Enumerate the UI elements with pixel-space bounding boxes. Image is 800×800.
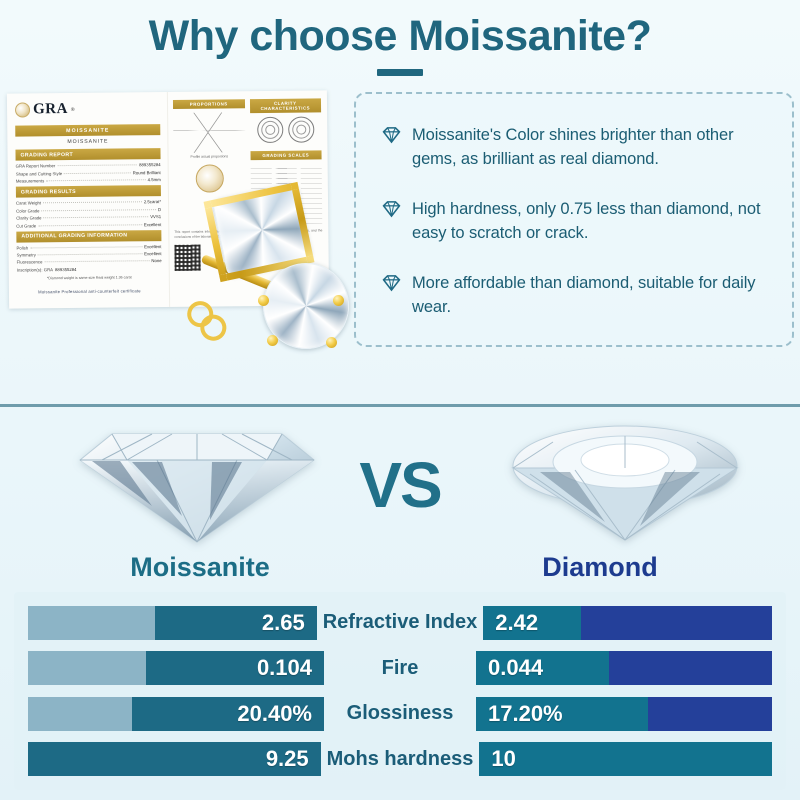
diamond-value: 2.42 bbox=[483, 610, 550, 636]
leader-dots bbox=[42, 209, 156, 211]
earring-back-icon bbox=[182, 285, 251, 349]
registered-mark: ® bbox=[71, 107, 75, 113]
benefit-item: More affordable than diamond, suitable f… bbox=[382, 272, 768, 320]
row-key: Symmetry bbox=[17, 253, 36, 258]
additional-row: Symmetry Excellent bbox=[17, 251, 162, 258]
benefit-text: Moissanite's Color shines brighter than … bbox=[412, 124, 768, 172]
result-row: Color Grade D bbox=[16, 207, 161, 214]
leader-dots bbox=[43, 216, 148, 218]
leader-dots bbox=[64, 172, 131, 174]
row-key: Fluorescence bbox=[17, 260, 43, 265]
certificate-left-column: GRA ® MOISSANITE MOISSANITE GRADING REPO… bbox=[7, 92, 169, 309]
crown-facet-icon bbox=[257, 117, 283, 143]
benefit-item: Moissanite's Color shines brighter than … bbox=[382, 124, 768, 172]
report-row: Shape and Cutting Style Round Brilliant bbox=[16, 170, 161, 177]
title-underline bbox=[377, 69, 423, 76]
row-key: Color Grade bbox=[16, 208, 39, 213]
diamond-icon bbox=[382, 200, 401, 223]
certificate-note: *Diamond weight is same size Real weight… bbox=[17, 275, 162, 281]
benefit-text: More affordable than diamond, suitable f… bbox=[412, 272, 768, 320]
moissanite-earrings-image bbox=[181, 187, 366, 362]
metric-label: Glossiness bbox=[324, 702, 476, 725]
benefits-card: Moissanite's Color shines brighter than … bbox=[354, 92, 794, 347]
leader-dots bbox=[44, 261, 149, 263]
metric-label: Mohs hardness bbox=[321, 748, 480, 771]
leader-dots bbox=[30, 246, 142, 248]
row-value: VVS1 bbox=[150, 214, 161, 219]
moissanite-bar: 20.40% bbox=[28, 697, 324, 731]
certificate-subtitle: MOISSANITE bbox=[15, 138, 160, 146]
proportions-diagram bbox=[173, 112, 245, 153]
row-value: 889355284 bbox=[139, 163, 161, 168]
moissanite-value: 20.40% bbox=[225, 701, 324, 727]
diamond-bar: 2.42 bbox=[483, 606, 772, 640]
metric-label: Fire bbox=[324, 657, 476, 680]
section-grading-report: GRADING REPORT bbox=[15, 148, 160, 161]
moissanite-value: 0.104 bbox=[245, 655, 324, 681]
section-additional-info: ADDITIONAL GRADING INFORMATION bbox=[16, 230, 161, 243]
certificate-photo: GRA ® MOISSANITE MOISSANITE GRADING REPO… bbox=[6, 92, 351, 360]
diamond-icon bbox=[382, 126, 401, 149]
intro-section: GRA ® MOISSANITE MOISSANITE GRADING REPO… bbox=[0, 84, 800, 369]
moissanite-value: 9.25 bbox=[254, 746, 321, 772]
pavilion-facet-icon bbox=[288, 117, 314, 143]
diamond-value: 10 bbox=[479, 746, 527, 772]
table-row: 20.40% Glossiness 17.20% bbox=[28, 697, 772, 731]
row-value: Excellent bbox=[144, 251, 161, 256]
result-row: Cut Grade Excellent bbox=[16, 222, 161, 229]
moissanite-bar: 2.65 bbox=[28, 606, 317, 640]
clarity-title: CLARITY CHARACTERISTICS bbox=[249, 99, 321, 114]
gra-logo: GRA ® bbox=[15, 100, 160, 119]
row-key: Cut Grade bbox=[16, 223, 36, 228]
metric-label: Refractive Index bbox=[317, 611, 484, 634]
row-value: 889355284 bbox=[55, 267, 77, 272]
prong-icon bbox=[326, 337, 337, 348]
moissanite-value: 2.65 bbox=[250, 610, 317, 636]
page-title: Why choose Moissanite? bbox=[0, 14, 800, 59]
leader-dots bbox=[46, 180, 145, 182]
diamond-image bbox=[500, 418, 750, 546]
report-row: GRA Report Number 889355284 bbox=[16, 163, 161, 170]
row-value: Excellent bbox=[144, 244, 161, 249]
left-label: Moissanite bbox=[0, 552, 400, 583]
leader-dots bbox=[38, 254, 142, 256]
diamond-bar: 0.044 bbox=[476, 651, 772, 685]
gra-seal-icon bbox=[15, 103, 30, 118]
scales-title: GRADING SCALES bbox=[250, 151, 322, 161]
diamond-bar: 17.20% bbox=[476, 697, 772, 731]
leader-dots bbox=[57, 165, 137, 167]
diamond-value: 17.20% bbox=[476, 701, 575, 727]
row-value: D bbox=[158, 207, 161, 212]
diamond-bar: 10 bbox=[479, 742, 772, 776]
row-key: GRA Report Number bbox=[16, 164, 56, 169]
row-value: 4.5mm bbox=[148, 177, 161, 182]
leader-dots bbox=[43, 202, 142, 204]
comparison-table: 2.65 Refractive Index 2.42 0.104 Fire 0.… bbox=[14, 592, 786, 790]
row-key: Measurements bbox=[16, 179, 44, 184]
row-value: 2.5carat* bbox=[144, 200, 161, 205]
row-value: Excellent bbox=[144, 222, 161, 227]
row-value: Round Brilliant bbox=[133, 170, 161, 175]
benefit-text: High hardness, only 0.75 less than diamo… bbox=[412, 198, 768, 246]
benefit-item: High hardness, only 0.75 less than diamo… bbox=[382, 198, 768, 246]
row-key: Inscription(s): GRA bbox=[17, 267, 53, 272]
diamond-icon bbox=[382, 274, 401, 297]
table-row: 9.25 Mohs hardness 10 bbox=[28, 742, 772, 776]
comparison-visual: VS Moissanite bbox=[0, 410, 800, 590]
row-key: Shape and Cutting Style bbox=[16, 171, 62, 176]
moissanite-bar: 9.25 bbox=[28, 742, 321, 776]
page-header: Why choose Moissanite? bbox=[0, 0, 800, 76]
row-key: Polish bbox=[16, 245, 28, 250]
proportions-title: PROPORTIONS bbox=[173, 99, 245, 109]
row-key: Clarity Grade bbox=[16, 216, 41, 221]
prong-icon bbox=[267, 335, 278, 346]
moissanite-bar: 0.104 bbox=[28, 651, 324, 685]
result-row: Clarity Grade VVS1 bbox=[16, 214, 161, 221]
report-row: Measurements 4.5mm bbox=[16, 177, 161, 184]
certificate-band-title: MOISSANITE bbox=[15, 124, 160, 137]
table-row: 0.104 Fire 0.044 bbox=[28, 651, 772, 685]
section-divider bbox=[0, 404, 800, 407]
additional-row: Fluorescence None bbox=[17, 259, 162, 266]
diamond-value: 0.044 bbox=[476, 655, 555, 681]
facet-diagrams bbox=[250, 117, 322, 144]
gra-brand-text: GRA bbox=[33, 101, 68, 118]
additional-row: Polish Excellent bbox=[16, 244, 161, 251]
right-label: Diamond bbox=[400, 552, 800, 583]
certificate-footer: Moissanite Professional anti-counterfeit… bbox=[17, 288, 162, 295]
row-key: Carat Weight bbox=[16, 201, 41, 206]
proportions-caption: Profile actual proportions bbox=[174, 154, 246, 159]
inscription-row: Inscription(s): GRA 889355284 bbox=[17, 266, 162, 273]
table-row: 2.65 Refractive Index 2.42 bbox=[28, 606, 772, 640]
result-row: Carat Weight 2.5carat* bbox=[16, 200, 161, 207]
section-grading-results: GRADING RESULTS bbox=[16, 185, 161, 198]
leader-dots bbox=[38, 224, 142, 226]
brilliant-cut-svg bbox=[500, 418, 750, 546]
row-value: None bbox=[151, 259, 161, 264]
